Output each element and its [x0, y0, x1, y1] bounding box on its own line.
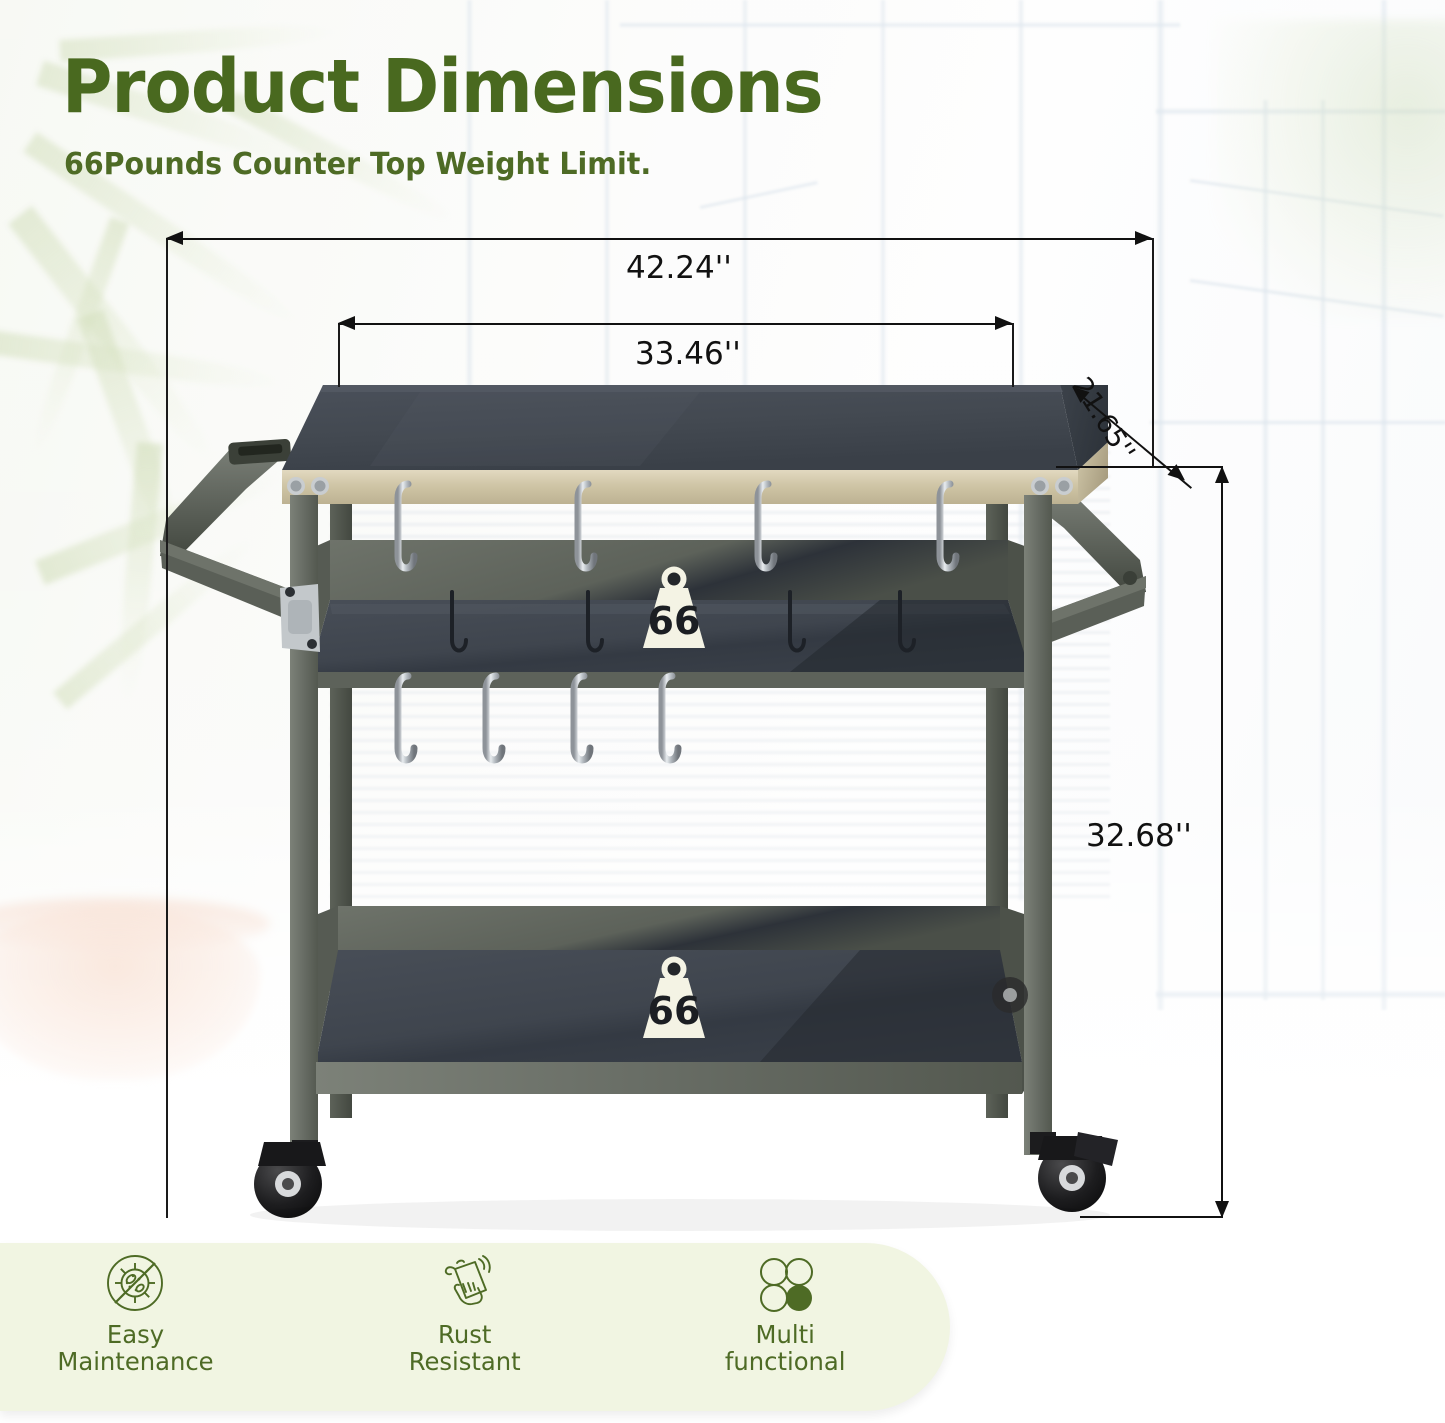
page-subtitle: 66Pounds Counter Top Weight Limit. — [64, 147, 651, 182]
left-caster — [254, 1140, 326, 1218]
tabletop — [282, 385, 1108, 470]
dimension-label-overall-height: 32.68'' — [1086, 818, 1192, 854]
feature-line1: Multi — [755, 1320, 814, 1349]
weight-badge-value-1: 66 — [648, 599, 701, 643]
weight-badge-value-2: 66 — [648, 989, 701, 1033]
product-dimensions-infographic: 42.24'' 33.46'' 21.65'' 32.68'' 66 — [0, 0, 1445, 1423]
no-germs-icon — [103, 1251, 167, 1315]
page-title: Product Dimensions — [62, 44, 823, 130]
middle-shelf-hooks — [398, 676, 678, 760]
feature-line1: Easy — [106, 1320, 163, 1349]
feature-line2: Resistant — [409, 1347, 521, 1376]
feature-line2: Maintenance — [57, 1347, 213, 1376]
right-caster — [1030, 1132, 1118, 1212]
feature-rust-resistant: Rust Resistant — [340, 1251, 590, 1401]
lower-cross-brace — [316, 1062, 1022, 1094]
feature-line1: Rust — [438, 1320, 491, 1349]
feature-line2: functional — [725, 1347, 846, 1376]
feature-label-multi-functional: Multi functional — [725, 1321, 846, 1375]
feature-label-easy-maintenance: Easy Maintenance — [57, 1321, 213, 1375]
dimension-label-tabletop-width: 33.46'' — [635, 336, 741, 372]
feature-easy-maintenance: Easy Maintenance — [10, 1251, 260, 1401]
hand-wipe-icon — [433, 1251, 497, 1315]
bottom-shelf-weight-badge: 66 — [633, 956, 715, 1044]
feature-label-rust-resistant: Rust Resistant — [409, 1321, 521, 1375]
middle-shelf-weight-badge: 66 — [633, 566, 715, 654]
dimension-label-overall-width: 42.24'' — [626, 250, 732, 286]
feature-bar: Easy Maintenance Rust — [0, 1243, 950, 1411]
feature-multi-functional: Multi functional — [660, 1251, 910, 1401]
rear-caster-hint — [992, 977, 1028, 1013]
four-circles-icon — [753, 1251, 817, 1315]
